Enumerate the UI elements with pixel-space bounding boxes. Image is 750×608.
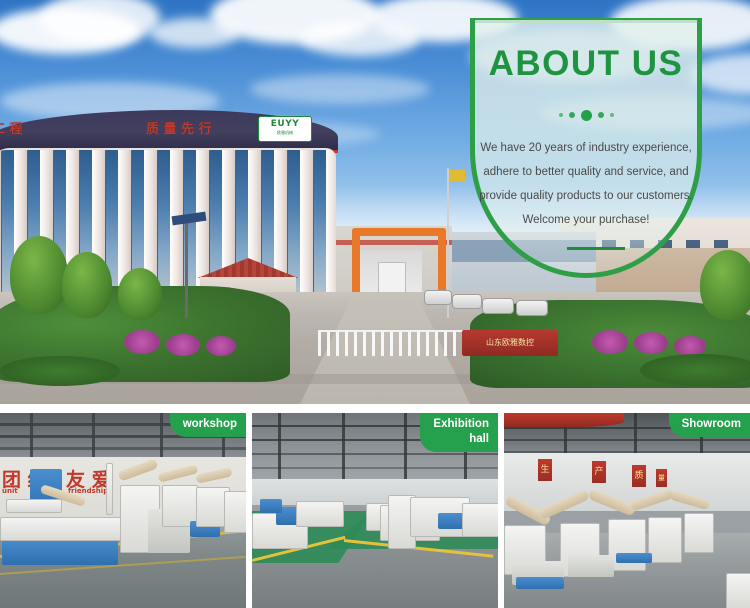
about-us-banner: 工 程 质 量 先 行 EUYY 欧雅机械 <box>0 0 750 608</box>
dot-icon <box>598 112 604 118</box>
gate-name-sign: 山东欧雅数控 <box>462 330 558 356</box>
flag <box>449 170 465 181</box>
thumbnail-tag-showroom: Showroom <box>669 413 750 437</box>
tree <box>62 252 112 318</box>
cnc-machine <box>726 573 750 608</box>
workshop-photo[interactable]: 团 结 友 爱 unit friendship workshop <box>0 413 246 608</box>
about-us-description: We have 20 years of industry experience,… <box>474 136 698 232</box>
hanging-banner: 质 <box>632 465 646 487</box>
flower-bed <box>634 332 668 354</box>
flower-bed <box>206 336 236 356</box>
roof-signage-band: 工 程 质 量 先 行 EUYY 欧雅机械 <box>0 110 338 153</box>
flower-bed <box>592 330 628 354</box>
hanging-banner: 量 <box>656 469 667 487</box>
description-line-4: Welcome your purchase! <box>474 208 698 232</box>
machine-base <box>616 553 652 563</box>
badge-underline <box>567 247 625 250</box>
parked-car <box>482 298 514 314</box>
flower-bed <box>674 336 706 356</box>
cloud <box>250 74 430 104</box>
exhibition-hall-photo[interactable]: Exhibition hall <box>252 413 498 608</box>
parked-car <box>516 300 548 316</box>
tree <box>118 268 162 320</box>
hedge <box>640 354 750 386</box>
retractable-gate <box>318 330 486 356</box>
parked-car <box>424 290 452 305</box>
facility-thumbnail-row: 团 结 友 爱 unit friendship workshop <box>0 413 750 608</box>
cnc-machine <box>684 513 714 553</box>
cnc-machine-arm <box>6 499 62 513</box>
flower-bed <box>124 330 160 354</box>
red-ceiling-banner <box>504 413 624 427</box>
gate-name-sign-text: 山东欧雅数控 <box>462 330 558 356</box>
cnc-machine <box>224 491 246 533</box>
dot-icon <box>569 112 575 118</box>
description-line-1: We have 20 years of industry experience, <box>474 136 698 160</box>
description-line-3: provide quality products to our customer… <box>474 184 698 208</box>
page-title: ABOUT US <box>470 44 702 84</box>
tree <box>10 236 68 314</box>
company-logo-subtext: 欧雅机械 <box>259 130 311 136</box>
cnc-machine-table <box>0 517 124 541</box>
machine-head <box>260 499 282 513</box>
dot-icon <box>581 110 592 121</box>
street-lamp-pole <box>185 218 188 318</box>
cnc-machine <box>648 517 682 563</box>
company-logo-sign: EUYY 欧雅机械 <box>258 116 312 142</box>
vertical-pipe <box>106 463 113 515</box>
thumbnail-tag-exhibition-hall: Exhibition hall <box>420 413 498 452</box>
cnc-machine <box>2 537 118 565</box>
flower-bed <box>166 334 200 356</box>
tree <box>700 250 750 320</box>
wall-pinyin-left: unit <box>2 487 18 495</box>
hero-factory-photo: 工 程 质 量 先 行 EUYY 欧雅机械 <box>0 0 750 404</box>
hedge <box>0 356 120 386</box>
cnc-machine <box>296 501 344 527</box>
parked-car <box>452 294 482 309</box>
hanging-banner: 产 <box>592 461 606 483</box>
thumbnail-tag-workshop: workshop <box>170 413 246 437</box>
company-logo-text: EUYY <box>259 119 311 129</box>
description-line-2: adhere to better quality and service, an… <box>474 160 698 184</box>
machine-base <box>516 577 564 589</box>
cnc-machine <box>462 503 498 537</box>
dot-icon <box>559 113 563 117</box>
machine-base <box>568 555 614 577</box>
showroom-photo[interactable]: 生 产 质 量 Showroom <box>504 413 750 608</box>
hanging-banner: 生 <box>538 459 552 481</box>
decorative-dots <box>470 108 702 122</box>
dot-icon <box>610 113 614 117</box>
gate-rail <box>318 330 486 332</box>
